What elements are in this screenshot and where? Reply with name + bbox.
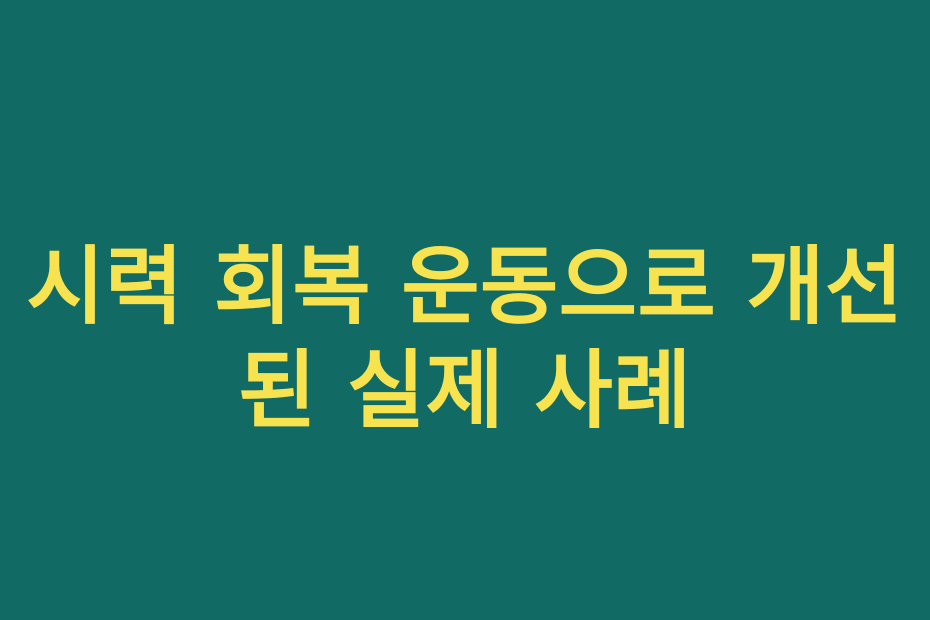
title-banner: 시력 회복 운동으로 개선 된 실제 사례 <box>0 0 930 620</box>
headline-line-2: 된 실제 사례 <box>20 340 910 444</box>
headline-block: 시력 회복 운동으로 개선 된 실제 사례 <box>0 236 930 444</box>
headline-line-1: 시력 회복 운동으로 개선 <box>20 236 910 340</box>
